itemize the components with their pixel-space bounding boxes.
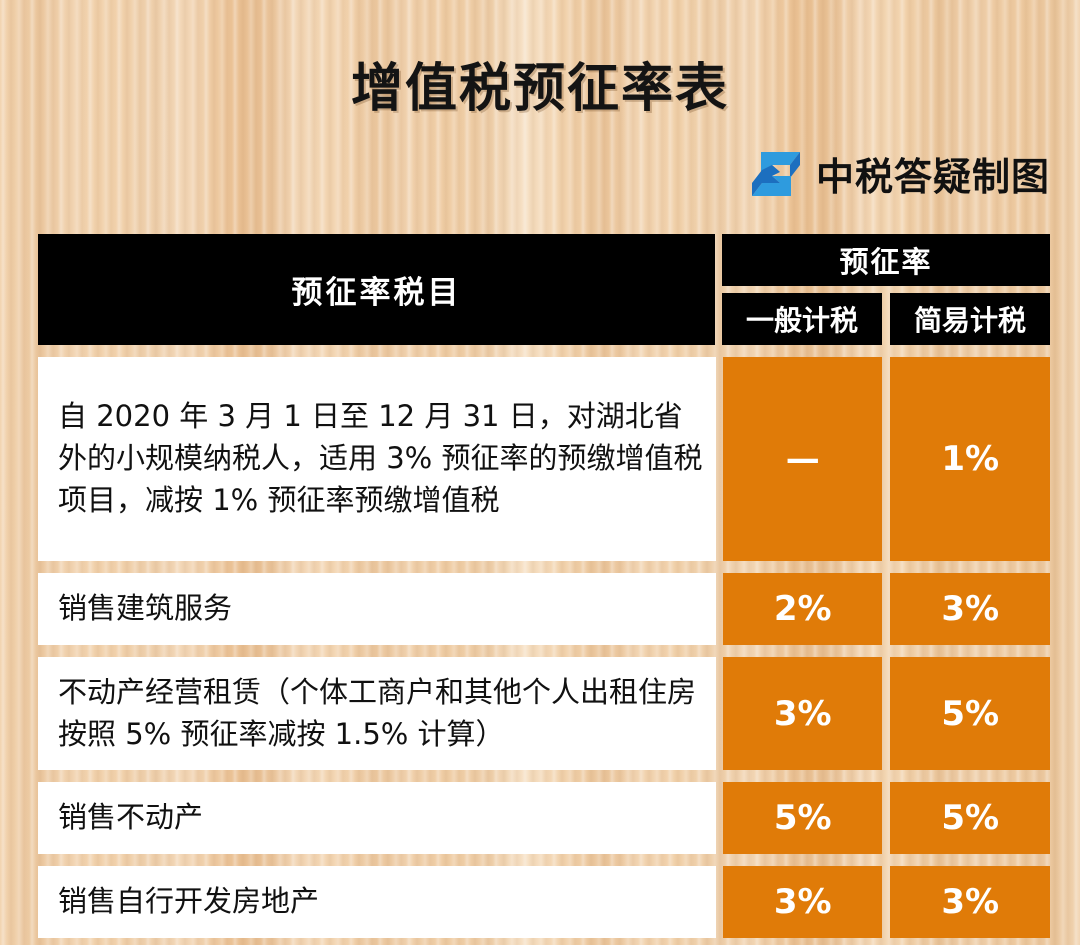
row-subject: 销售建筑服务: [38, 573, 716, 645]
header-rate-group: 预征率 一般计税 简易计税: [722, 234, 1050, 345]
tax-rate-table: 预征率税目 预征率 一般计税 简易计税 自 2020 年 3 月 1 日至 12…: [38, 234, 1050, 938]
row-subject-text: 自 2020 年 3 月 1 日至 12 月 31 日，对湖北省外的小规模纳税人…: [58, 396, 704, 521]
row-general-rate: 3%: [723, 866, 883, 938]
row-subject: 自 2020 年 3 月 1 日至 12 月 31 日，对湖北省外的小规模纳税人…: [38, 357, 716, 561]
page-title: 增值税预征率表: [0, 46, 1080, 121]
row-subject: 销售自行开发房地产: [38, 866, 716, 938]
row-simple-rate: 1%: [890, 357, 1050, 561]
row-simple-rate: 5%: [890, 657, 1050, 770]
header-simple-method: 简易计税: [890, 293, 1050, 345]
table-row: 销售建筑服务 2% 3%: [38, 573, 1050, 645]
table-row: 自 2020 年 3 月 1 日至 12 月 31 日，对湖北省外的小规模纳税人…: [38, 357, 1050, 561]
row-simple-rate: 3%: [890, 573, 1050, 645]
credit-text: 中税答疑制图: [816, 146, 1050, 201]
header-subject: 预征率税目: [38, 234, 715, 345]
table-row: 不动产经营租赁（个体工商户和其他个人出租住房按照 5% 预征率减按 1.5% 计…: [38, 657, 1050, 770]
credit-block: 中税答疑制图: [748, 146, 1050, 201]
row-general-rate: 5%: [723, 782, 883, 854]
row-subject-text: 不动产经营租赁（个体工商户和其他个人出租住房按照 5% 预征率减按 1.5% 计…: [58, 672, 704, 756]
row-simple-rate: 3%: [890, 866, 1050, 938]
header-rate-subcolumns: 一般计税 简易计税: [722, 293, 1050, 345]
row-general-rate: 3%: [723, 657, 883, 770]
row-subject-text: 销售不动产: [58, 797, 704, 839]
row-subject: 不动产经营租赁（个体工商户和其他个人出租住房按照 5% 预征率减按 1.5% 计…: [38, 657, 716, 770]
table-row: 销售自行开发房地产 3% 3%: [38, 866, 1050, 938]
row-simple-rate: 5%: [890, 782, 1050, 854]
row-general-rate: —: [723, 357, 883, 561]
table-header: 预征率税目 预征率 一般计税 简易计税: [38, 234, 1050, 345]
row-subject: 销售不动产: [38, 782, 716, 854]
row-subject-text: 销售自行开发房地产: [58, 881, 704, 923]
table-row: 销售不动产 5% 5%: [38, 782, 1050, 854]
row-general-rate: 2%: [723, 573, 883, 645]
row-subject-text: 销售建筑服务: [58, 588, 704, 630]
header-general-method: 一般计税: [722, 293, 882, 345]
brand-logo-icon: [748, 148, 804, 200]
header-rate-title: 预征率: [722, 234, 1050, 286]
